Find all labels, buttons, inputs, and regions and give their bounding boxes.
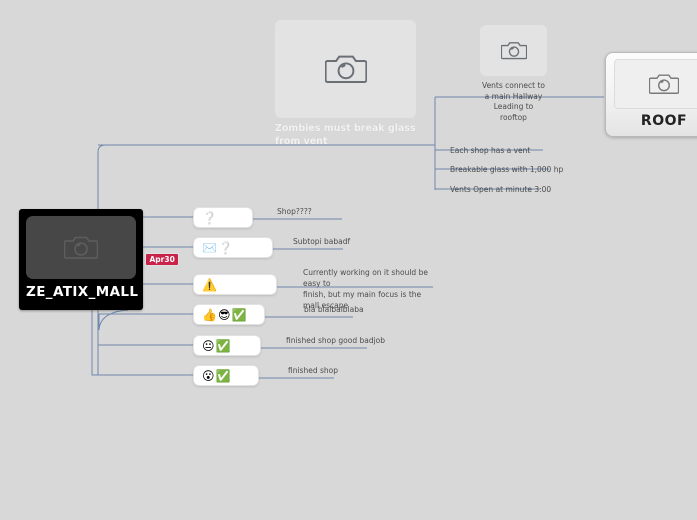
emoji-node-warning[interactable]: ⚠️ [193, 274, 277, 295]
emoji-glyphs: 👍😎✅ [202, 309, 247, 321]
emoji-node-shop-q[interactable]: ❔ [193, 207, 253, 228]
emoji-glyphs: ❔ [202, 212, 218, 224]
image-card-caption: Vents connect to a main Hallway Leading … [480, 81, 547, 123]
image-placeholder[interactable] [275, 20, 416, 118]
root-node-thumbnail[interactable] [26, 216, 136, 279]
label-surprise-check[interactable]: finished shop [288, 366, 338, 377]
emoji-glyphs: 😮✅ [202, 370, 231, 382]
emoji-glyphs: ✉️❔ [202, 242, 234, 254]
image-placeholder[interactable] [480, 25, 547, 76]
emoji-glyphs: 😐✅ [202, 340, 231, 352]
label-shop-q[interactable]: Shop???? [277, 207, 312, 218]
image-card-vents[interactable]: Vents connect to a main Hallway Leading … [480, 25, 547, 123]
emoji-glyphs: ⚠️ [202, 279, 218, 291]
camera-icon [325, 52, 367, 86]
image-card-caption: Zombies must break glass from vent [275, 123, 416, 149]
camera-icon [649, 72, 679, 96]
label-each-shop[interactable]: Each shop has a vent [450, 146, 530, 157]
roof-node-title: ROOF [614, 113, 697, 129]
roof-node[interactable]: ROOF [605, 52, 697, 137]
label-subtopic[interactable]: Subtopi babadf [293, 237, 350, 248]
mindmap-canvas[interactable]: ZE_ATIX_MALL Apr30 ROOF Zombies must bre… [0, 0, 697, 520]
date-badge[interactable]: Apr30 [145, 253, 179, 266]
label-thumbs-cool[interactable]: bla blalbalblaba [304, 305, 364, 316]
roof-node-thumbnail[interactable] [614, 59, 697, 109]
emoji-node-neutral-check[interactable]: 😐✅ [193, 335, 261, 356]
label-vents-open[interactable]: Vents Open at minute 3:00 [450, 185, 551, 196]
label-neutral-check[interactable]: finished shop good badjob [286, 336, 385, 347]
image-card-zombies[interactable]: Zombies must break glass from vent [275, 20, 416, 149]
emoji-node-thumbs-cool[interactable]: 👍😎✅ [193, 304, 265, 325]
label-breakable-glass[interactable]: Breakable glass with 1,000 hp [450, 165, 563, 176]
root-node[interactable]: ZE_ATIX_MALL [19, 209, 143, 310]
emoji-node-subtopic[interactable]: ✉️❔ [193, 237, 273, 258]
root-node-title: ZE_ATIX_MALL [26, 284, 136, 300]
emoji-node-surprise-check[interactable]: 😮✅ [193, 365, 259, 386]
camera-icon [501, 40, 527, 61]
camera-icon [64, 234, 98, 261]
